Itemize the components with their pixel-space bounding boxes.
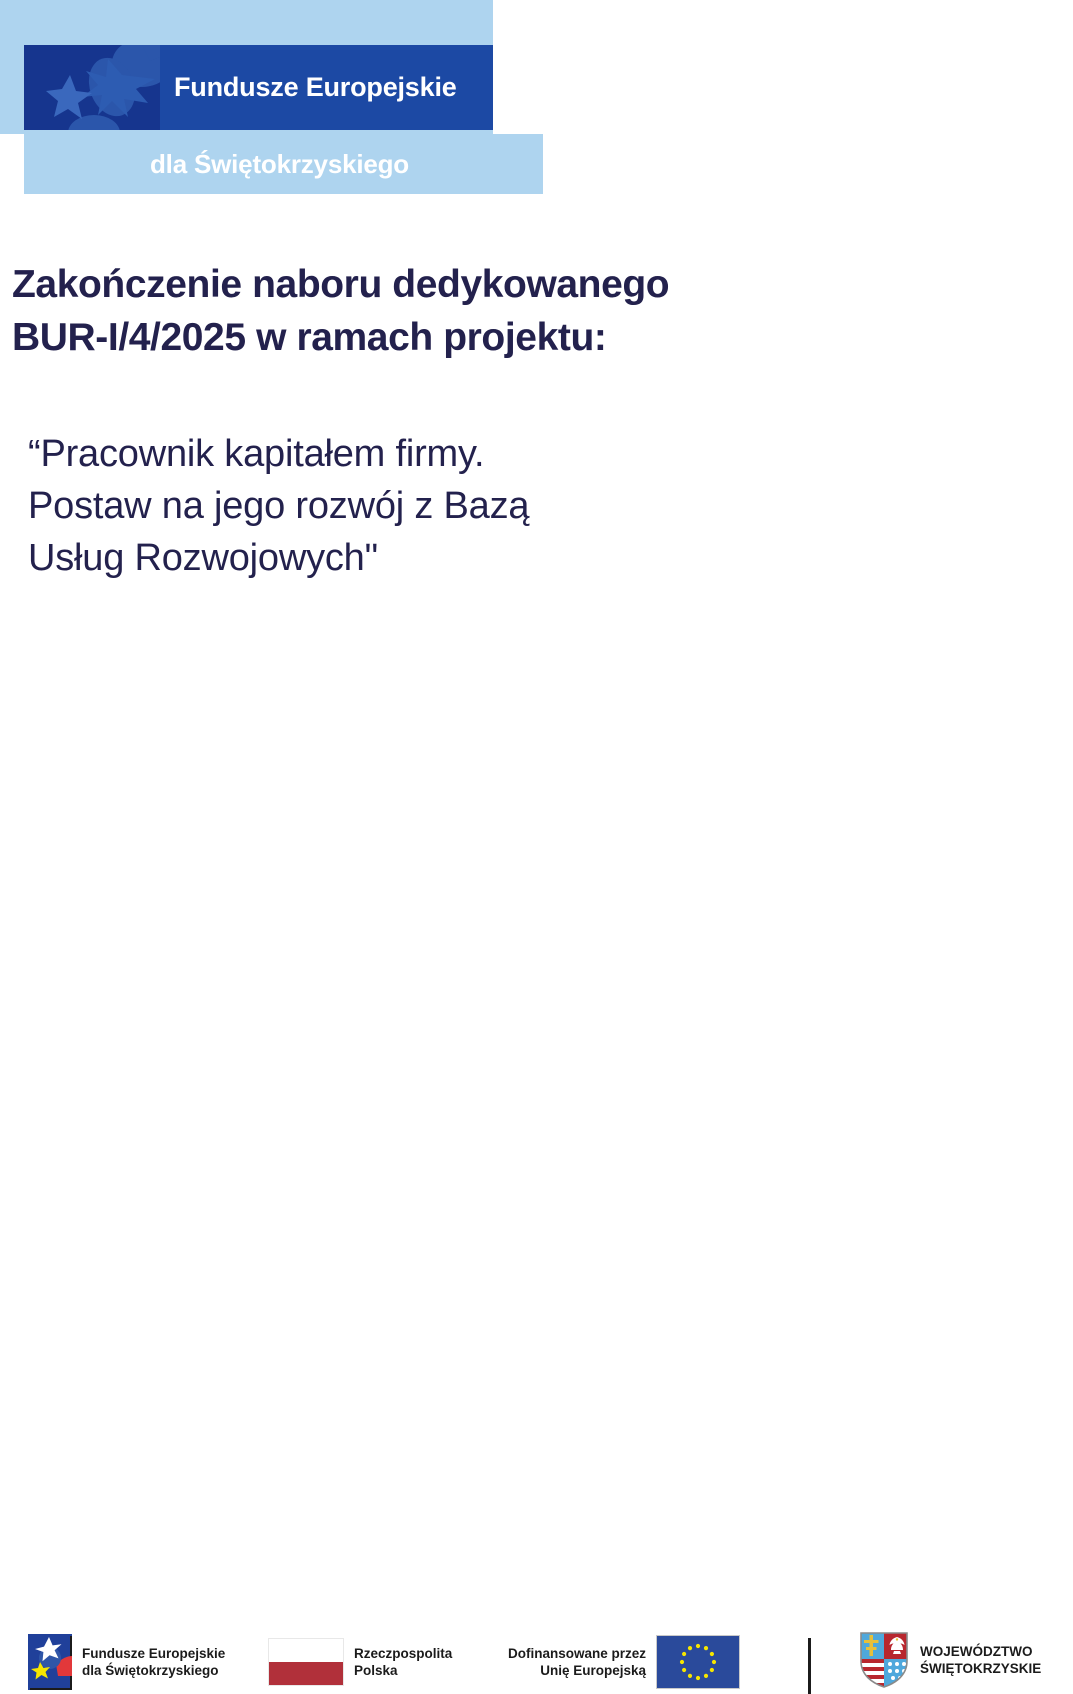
brand-title: Fundusze Europejskie [174,45,457,130]
logo-eu-label-line-1: Dofinansowane przez [508,1645,646,1662]
star-blob-motif-icon [24,45,160,130]
logo-woj-label-line-2: ŚWIĘTOKRZYSKIE [920,1660,1041,1677]
project-quote-line-3: Usług Rozwojowych" [28,532,888,584]
page-headline: Zakończenie naboru dedykowanego BUR-I/4/… [12,258,912,364]
logo-rp-label-line-1: Rzeczpospolita [354,1645,452,1662]
logo-wojewodztwo-swietokrzyskie-label: WOJEWÓDZTWO ŚWIĘTOKRZYSKIE [920,1643,1041,1677]
swietokrzyskie-coat-of-arms-icon [858,1631,910,1689]
footer-divider [808,1638,811,1694]
logo-fe-label-line-2: dla Świętokrzyskiego [82,1662,225,1679]
project-quote-line-2: Postaw na jego rozwój z Bazą [28,480,888,532]
headline-line-1: Zakończenie naboru dedykowanego [12,258,912,311]
logo-fundusze-europejskie: Fundusze Europejskie dla Świętokrzyskieg… [28,1632,225,1692]
brand-subtitle: dla Świętokrzyskiego [150,134,409,194]
logo-dofinansowane-przez-unie-europejska: Dofinansowane przez Unię Europejską [508,1632,740,1692]
project-quote-line-1: “Pracownik kapitałem firmy. [28,428,888,480]
logo-rzeczpospolita-polska-label: Rzeczpospolita Polska [354,1645,452,1679]
european-union-flag-icon [656,1635,740,1689]
footer-logo-strip: Fundusze Europejskie dla Świętokrzyskieg… [0,808,1073,898]
project-title-quote: “Pracownik kapitałem firmy. Postaw na je… [28,428,888,584]
logo-eu-label: Dofinansowane przez Unię Europejską [508,1645,646,1679]
logo-woj-label-line-1: WOJEWÓDZTWO [920,1643,1041,1660]
headline-line-2: BUR-I/4/2025 w ramach projektu: [12,311,912,364]
logo-wojewodztwo-swietokrzyskie: WOJEWÓDZTWO ŚWIĘTOKRZYSKIE [858,1630,1041,1690]
logo-rp-label-line-2: Polska [354,1662,452,1679]
eu-funds-flag-icon [28,1634,72,1690]
logo-fundusze-europejskie-label: Fundusze Europejskie dla Świętokrzyskieg… [82,1645,225,1679]
brand-header-block: Fundusze Europejskie dla Świętokrzyskieg… [0,0,543,195]
logo-eu-label-line-2: Unię Europejską [508,1662,646,1679]
polish-flag-icon [268,1638,344,1686]
logo-rzeczpospolita-polska: Rzeczpospolita Polska [268,1632,452,1692]
logo-fe-label-line-1: Fundusze Europejskie [82,1645,225,1662]
brand-dark-banner: Fundusze Europejskie [24,45,493,130]
